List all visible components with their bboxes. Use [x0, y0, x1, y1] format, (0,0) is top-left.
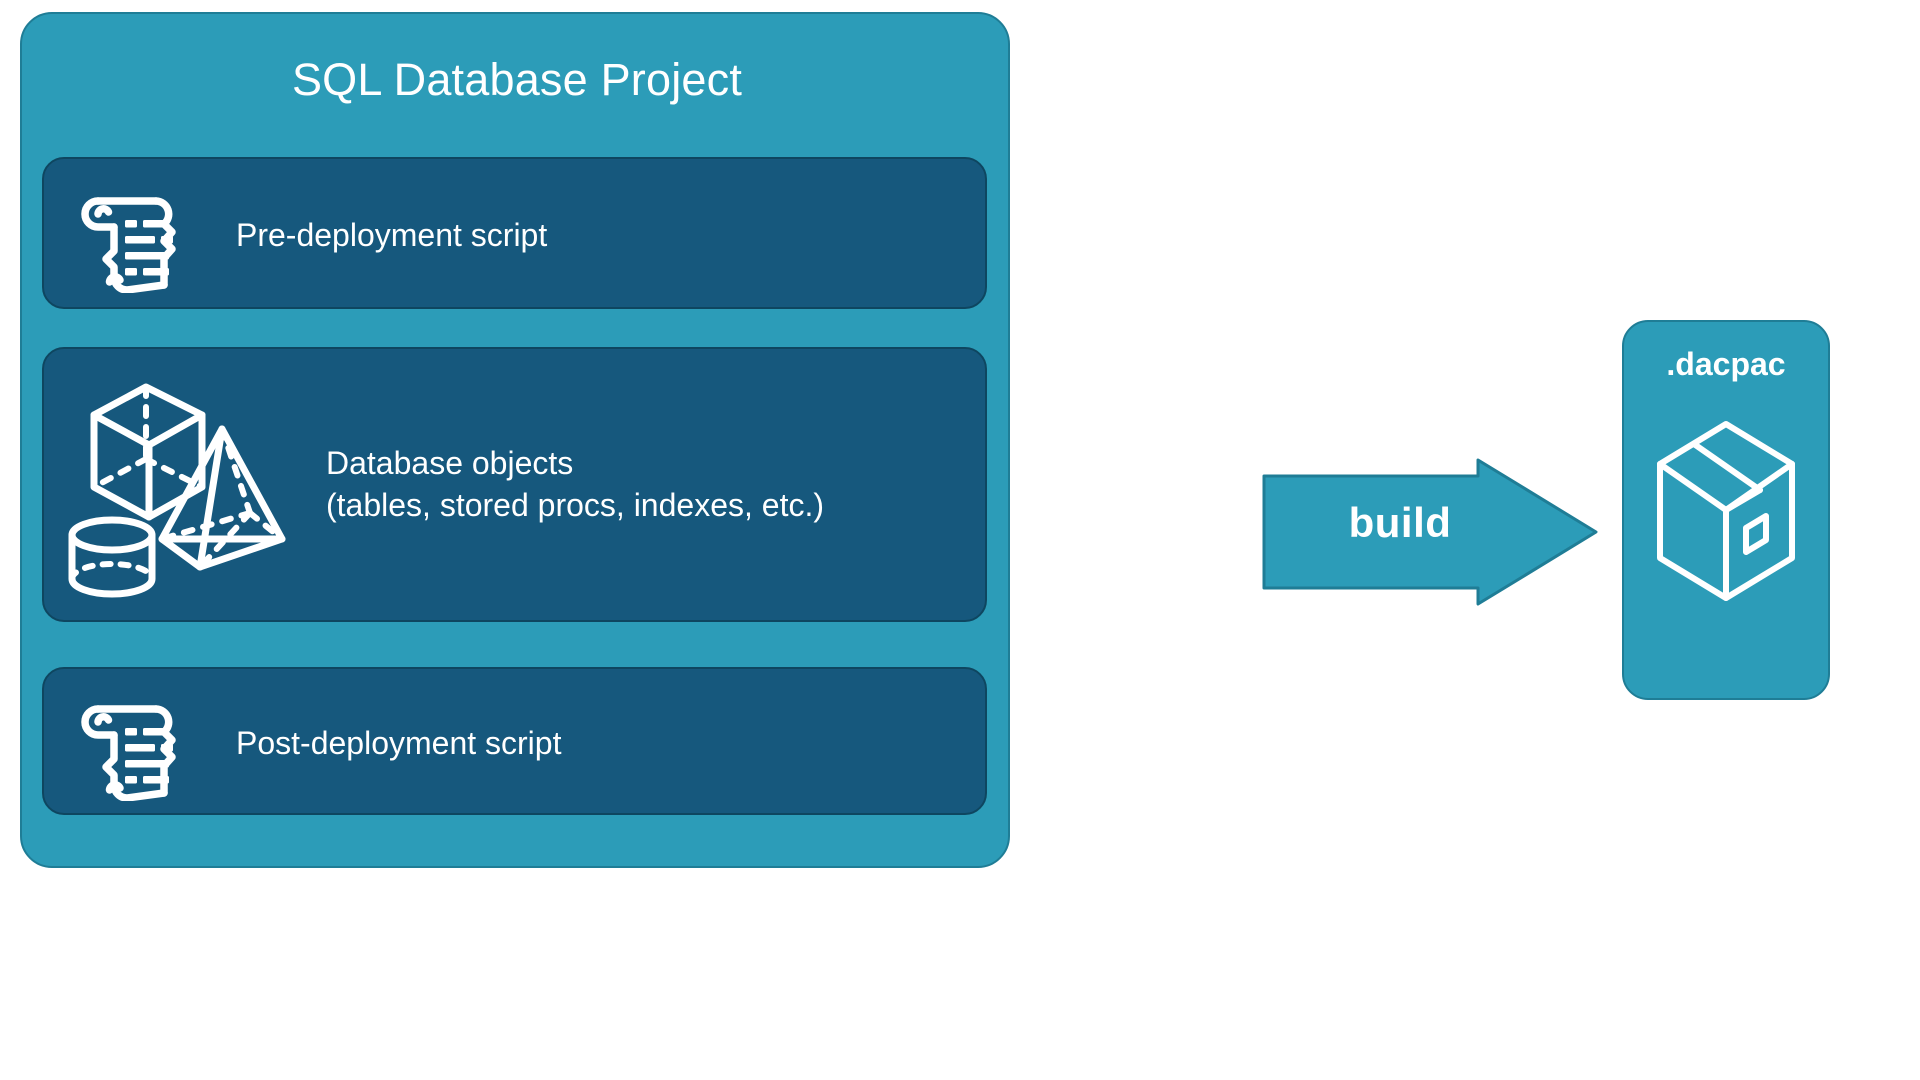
- database-objects-card[interactable]: Database objects (tables, stored procs, …: [42, 347, 987, 622]
- panel-title: SQL Database Project: [22, 52, 1012, 108]
- pre-deployment-script-label: Pre-deployment script: [236, 214, 547, 256]
- sql-database-project-panel: SQL Database Project: [20, 12, 1010, 868]
- shapes-icon: [54, 367, 314, 612]
- database-objects-label-line2: (tables, stored procs, indexes, etc.): [326, 484, 824, 526]
- package-box-icon: [1650, 406, 1802, 621]
- post-deployment-script-label: Post-deployment script: [236, 722, 561, 764]
- scroll-icon: [68, 175, 186, 298]
- build-arrow-label: build: [1310, 495, 1490, 551]
- database-objects-label-line1: Database objects: [326, 442, 824, 484]
- database-objects-label: Database objects (tables, stored procs, …: [326, 442, 824, 526]
- dacpac-output-card[interactable]: .dacpac: [1622, 320, 1830, 700]
- diagram-canvas: SQL Database Project: [0, 0, 1920, 1080]
- scroll-icon: [68, 683, 186, 806]
- dacpac-label: .dacpac: [1624, 344, 1828, 384]
- post-deployment-script-card[interactable]: Post-deployment script: [42, 667, 987, 815]
- pre-deployment-script-card[interactable]: Pre-deployment script: [42, 157, 987, 309]
